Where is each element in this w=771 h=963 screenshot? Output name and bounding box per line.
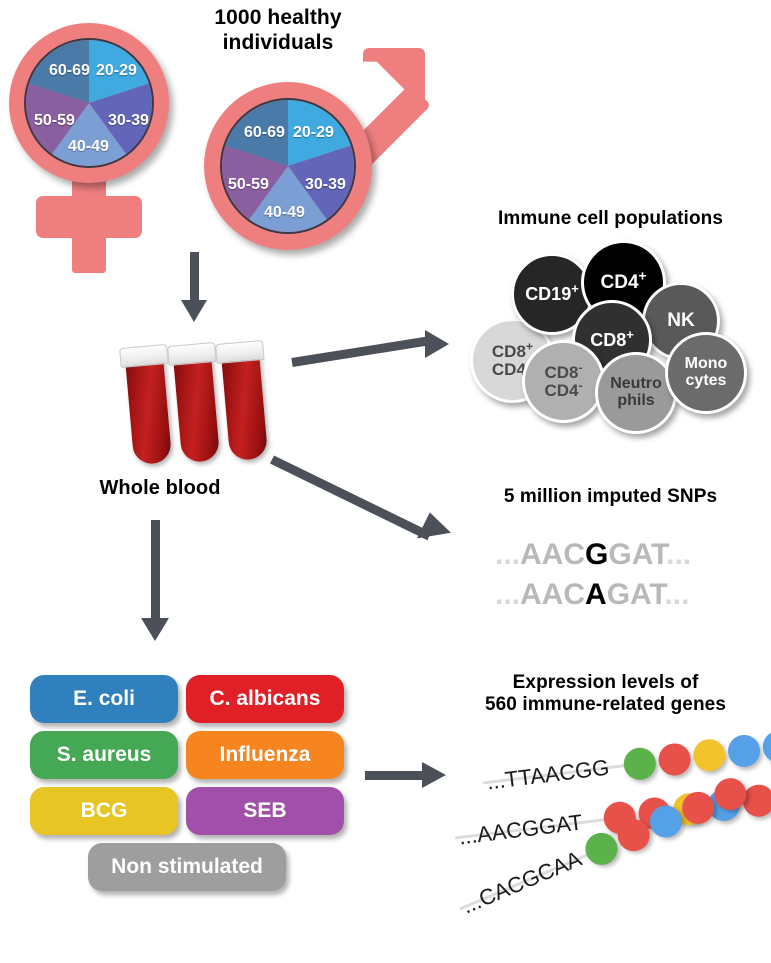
- cell-label-line1: Mono: [685, 355, 728, 372]
- blood-tube-3: [220, 340, 268, 461]
- strand-sequence-3: ...CACGCAA: [458, 846, 585, 920]
- pie-label-30-39-male: 30-39: [305, 176, 346, 194]
- snp-sequence-row-1: ...AACGGAT...: [495, 538, 691, 572]
- pie-label-60-69-female: 60-69: [49, 62, 90, 80]
- stimulus-non-stimulated[interactable]: Non stimulated: [88, 843, 286, 891]
- pie-label-20-29-male: 20-29: [293, 124, 334, 142]
- female-gender-symbol: 60-69 20-29 50-59 30-39 40-49: [8, 18, 188, 268]
- pie-label-30-39-female: 30-39: [108, 112, 149, 130]
- expression-title-line2: 560 immune-related genes: [440, 694, 771, 716]
- pie-label-50-59-female: 50-59: [34, 112, 75, 130]
- arrow-head: [181, 300, 207, 322]
- gene-bead: [622, 746, 658, 782]
- pie-label-60-69-male: 60-69: [244, 124, 285, 142]
- tube-rim: [119, 344, 169, 368]
- snp-sequence-row-2: ...AACAGAT...: [495, 578, 689, 612]
- arrow-shaft: [270, 455, 431, 540]
- cell-label-line2: CD4-: [544, 381, 582, 400]
- arrow-shaft: [291, 336, 431, 367]
- gene-bead: [657, 742, 693, 778]
- gene-bead: [761, 729, 771, 765]
- dna-strands-group: ...TTAACGG ...AACGGAT ...CACGCAA: [455, 730, 771, 910]
- cell-label: CD8+: [590, 331, 634, 350]
- snp-left: AAC: [520, 578, 585, 611]
- stimulus-influenza[interactable]: Influenza: [186, 731, 344, 779]
- stimulus-e-coli[interactable]: E. coli: [30, 675, 178, 723]
- female-stem-horizontal: [36, 196, 142, 238]
- arrow-head: [425, 330, 449, 358]
- stimulus-seb[interactable]: SEB: [186, 787, 344, 835]
- gene-bead: [691, 737, 727, 773]
- arrow-head: [141, 618, 169, 641]
- stimulus-s-aureus[interactable]: S. aureus: [30, 731, 178, 779]
- cell-label-line2: phils: [617, 392, 654, 409]
- cell-label-line1: Neutro: [610, 375, 662, 392]
- pie-label-50-59-male: 50-59: [228, 176, 269, 194]
- cell-label: CD4+: [601, 273, 647, 293]
- immune-section-title: Immune cell populations: [450, 208, 771, 230]
- stimuli-panel: E. coli C. albicans S. aureus Influenza …: [30, 675, 350, 900]
- arrow-shaft: [151, 520, 160, 620]
- gene-bead: [726, 733, 762, 769]
- gene-bead: [613, 814, 655, 856]
- arrow-head: [422, 762, 446, 788]
- cell-label-line1: CD8-: [544, 363, 582, 382]
- snp-prefix: ...: [495, 578, 520, 611]
- cell-label: CD19+: [525, 285, 579, 304]
- snp-right: GAT: [608, 538, 666, 571]
- tube-body: [173, 356, 220, 463]
- strand-sequence-1: ...TTAACGG: [485, 755, 610, 796]
- tube-rim: [215, 340, 265, 364]
- snps-section-title: 5 million imputed SNPs: [450, 486, 771, 508]
- tube-body: [221, 354, 268, 461]
- snp-right: GAT: [607, 578, 665, 611]
- cell-label: NK: [667, 311, 694, 331]
- arrow-head: [417, 512, 455, 550]
- snp-suffix: ...: [666, 538, 691, 571]
- stimulus-bcg[interactable]: BCG: [30, 787, 178, 835]
- stimulus-c-albicans[interactable]: C. albicans: [186, 675, 344, 723]
- arrow-shaft: [365, 771, 425, 780]
- immune-cell-monocytes: Mono cytes: [665, 332, 747, 414]
- immune-cell-cd8n-cd4n: CD8- CD4-: [522, 340, 605, 423]
- pie-label-20-29-female: 20-29: [96, 62, 137, 80]
- pie-label-40-49-female: 40-49: [68, 138, 109, 156]
- snp-left: AAC: [520, 538, 585, 571]
- blood-tubes-group: [110, 340, 280, 470]
- expression-section-title: Expression levels of 560 immune-related …: [440, 672, 771, 717]
- blood-tube-1: [124, 344, 172, 465]
- tube-body: [125, 358, 172, 465]
- figure-canvas: 1000 healthy individuals 60-69 20-29 50-…: [0, 0, 771, 922]
- snp-variant: A: [585, 578, 607, 611]
- whole-blood-label: Whole blood: [60, 477, 260, 501]
- male-gender-symbol: 60-69 20-29 50-59 30-39 40-49: [200, 40, 430, 260]
- cell-label-line2: cytes: [686, 372, 727, 389]
- blood-tube-2: [172, 342, 220, 463]
- immune-cell-cluster: CD8+ CD4+ CD19+ CD4+ NK CD8+ CD8- CD4- N…: [450, 240, 771, 420]
- arrow-shaft: [190, 252, 199, 304]
- gene-bead: [580, 828, 622, 870]
- expression-title-line1: Expression levels of: [440, 672, 771, 694]
- snp-variant: G: [585, 538, 608, 571]
- snp-prefix: ...: [495, 538, 520, 571]
- pie-label-40-49-male: 40-49: [264, 204, 305, 222]
- snp-suffix: ...: [664, 578, 689, 611]
- tube-rim: [167, 342, 217, 366]
- immune-cell-neutrophils: Neutro phils: [595, 352, 677, 434]
